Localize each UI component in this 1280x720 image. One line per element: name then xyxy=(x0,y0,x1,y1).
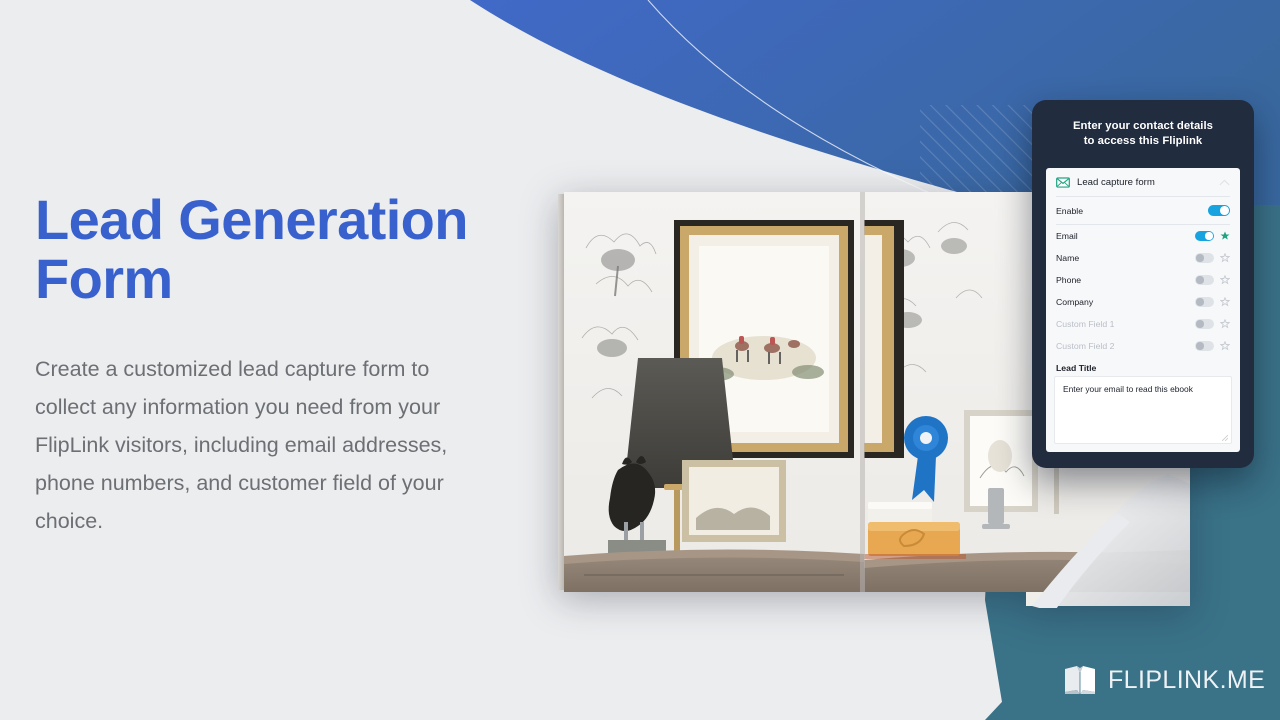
envelope-icon xyxy=(1056,177,1070,188)
enable-toggle[interactable] xyxy=(1208,205,1230,217)
required-star-icon-custom-2[interactable] xyxy=(1220,341,1230,351)
field-toggle-custom-1[interactable] xyxy=(1195,319,1214,329)
panel-heading-line1: Enter your contact details xyxy=(1073,120,1213,132)
field-label-custom-1: Custom Field 1 xyxy=(1056,319,1195,329)
field-label-name: Name xyxy=(1056,253,1195,263)
lead-capture-card: Lead capture form Enable Email xyxy=(1046,168,1240,452)
brand-logo-text: FLIPLINK.ME xyxy=(1108,666,1265,695)
field-label-email: Email xyxy=(1056,231,1195,241)
row-phone[interactable]: Phone xyxy=(1046,269,1240,291)
row-enable[interactable]: Enable xyxy=(1046,197,1240,224)
open-book-icon xyxy=(1063,665,1097,695)
required-star-icon-company[interactable] xyxy=(1220,297,1230,307)
slide-canvas: Lead Generation Form Create a customized… xyxy=(0,0,1280,720)
field-label-company: Company xyxy=(1056,297,1195,307)
brand-logo: FLIPLINK.ME xyxy=(1063,665,1265,695)
row-company[interactable]: Company xyxy=(1046,291,1240,313)
card-header-label: Lead capture form xyxy=(1077,177,1212,188)
enable-control[interactable] xyxy=(1208,205,1230,217)
enable-label: Enable xyxy=(1056,206,1208,216)
field-toggle-email[interactable] xyxy=(1195,231,1214,241)
card-header[interactable]: Lead capture form xyxy=(1046,168,1240,196)
lead-capture-panel: Enter your contact details to access thi… xyxy=(1032,100,1254,468)
lead-title-input[interactable]: Enter your email to read this ebook xyxy=(1054,376,1232,444)
hero-description: Create a customized lead capture form to… xyxy=(35,350,485,540)
hero-copy-block: Lead Generation Form Create a customized… xyxy=(35,190,535,540)
field-control-custom-1[interactable] xyxy=(1195,319,1230,329)
resize-handle-icon[interactable] xyxy=(1222,435,1228,441)
required-star-icon-phone[interactable] xyxy=(1220,275,1230,285)
field-control-custom-2[interactable] xyxy=(1195,341,1230,351)
field-label-custom-2: Custom Field 2 xyxy=(1056,341,1195,351)
row-custom-field-1[interactable]: Custom Field 1 xyxy=(1046,313,1240,335)
field-toggle-name[interactable] xyxy=(1195,253,1214,263)
field-control-name[interactable] xyxy=(1195,253,1230,263)
field-control-email[interactable] xyxy=(1195,231,1230,241)
field-control-company[interactable] xyxy=(1195,297,1230,307)
chevron-up-icon[interactable] xyxy=(1219,179,1230,186)
field-toggle-company[interactable] xyxy=(1195,297,1214,307)
field-toggle-phone[interactable] xyxy=(1195,275,1214,285)
panel-heading-line2: to access this Fliplink xyxy=(1084,135,1203,147)
required-star-icon-name[interactable] xyxy=(1220,253,1230,263)
required-star-icon-email[interactable] xyxy=(1220,231,1230,241)
required-star-icon-custom-1[interactable] xyxy=(1220,319,1230,329)
field-toggle-custom-2[interactable] xyxy=(1195,341,1214,351)
row-email[interactable]: Email xyxy=(1046,225,1240,247)
lead-title-label: Lead Title xyxy=(1046,357,1240,376)
row-name[interactable]: Name xyxy=(1046,247,1240,269)
panel-heading: Enter your contact details to access thi… xyxy=(1032,100,1254,149)
field-label-phone: Phone xyxy=(1056,275,1195,285)
page-title: Lead Generation Form xyxy=(35,190,535,308)
lead-title-value: Enter your email to read this ebook xyxy=(1063,384,1223,395)
row-custom-field-2[interactable]: Custom Field 2 xyxy=(1046,335,1240,357)
field-control-phone[interactable] xyxy=(1195,275,1230,285)
